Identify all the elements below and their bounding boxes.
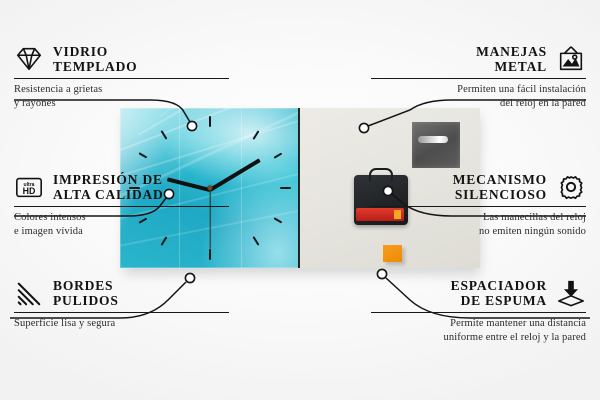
feature-sub: Permiten una fácil instalación bbox=[371, 83, 586, 97]
feature-sub: Superficie lisa y segura bbox=[14, 317, 229, 331]
feature-title: MECANISMO bbox=[453, 172, 547, 187]
divider bbox=[371, 78, 586, 80]
feature-sub-2: del reloj en la pared bbox=[371, 97, 586, 111]
divider bbox=[14, 78, 229, 80]
svg-text:HD: HD bbox=[23, 186, 36, 196]
feature-vidrio-templado[interactable]: VIDRIO TEMPLADO Resistencia a grietas y … bbox=[14, 44, 229, 111]
feature-sub: Permite mantener una distancia bbox=[371, 317, 586, 331]
feature-sub: Resistencia a grietas bbox=[14, 83, 229, 97]
metal-hanger-plate bbox=[412, 122, 460, 168]
feature-sub-2: e imagen vívida bbox=[14, 225, 229, 239]
divider bbox=[371, 206, 586, 208]
feature-title-2: SILENCIOSO bbox=[453, 187, 547, 202]
foam-spacer-arrow-icon bbox=[556, 278, 586, 308]
feature-title-2: METAL bbox=[476, 59, 547, 74]
picture-frame-hanger-icon bbox=[556, 44, 586, 74]
feature-sub-2: uniforme entre el reloj y la pared bbox=[371, 331, 586, 345]
feature-espaciador-espuma[interactable]: ESPACIADOR DE ESPUMA Permite mantener un… bbox=[371, 278, 586, 345]
feature-manejas-metal[interactable]: MANEJAS METAL Permiten una fácil instala… bbox=[371, 44, 586, 111]
polished-edge-icon bbox=[14, 278, 44, 308]
feature-title-2: ALTA CALIDAD bbox=[53, 187, 164, 202]
infographic-stage: VIDRIO TEMPLADO Resistencia a grietas y … bbox=[0, 0, 600, 400]
feature-sub-2: no emiten ningún sonido bbox=[371, 225, 586, 239]
feature-title: MANEJAS bbox=[476, 44, 547, 59]
feature-title: BORDES bbox=[53, 278, 119, 293]
divider bbox=[14, 206, 229, 208]
foam-spacer-pad bbox=[383, 245, 402, 262]
feature-sub: Las manecillas del reloj bbox=[371, 211, 586, 225]
feature-title-2: TEMPLADO bbox=[53, 59, 137, 74]
divider bbox=[14, 312, 229, 314]
feature-title: IMPRESIÓN DE bbox=[53, 172, 164, 187]
diamond-icon bbox=[14, 44, 44, 74]
feature-title-2: PULIDOS bbox=[53, 293, 119, 308]
feature-bordes-pulidos[interactable]: BORDES PULIDOS Superficie lisa y segura bbox=[14, 278, 229, 331]
feature-impresion-alta-calidad[interactable]: ultra HD IMPRESIÓN DE ALTA CALIDAD Color… bbox=[14, 172, 229, 239]
feature-sub-2: y rayones bbox=[14, 97, 229, 111]
feature-title-2: DE ESPUMA bbox=[451, 293, 547, 308]
gear-icon bbox=[556, 172, 586, 202]
ultra-hd-icon: ultra HD bbox=[14, 172, 44, 202]
divider bbox=[371, 312, 586, 314]
feature-title: VIDRIO bbox=[53, 44, 137, 59]
feature-sub: Colores intensos bbox=[14, 211, 229, 225]
feature-title: ESPACIADOR bbox=[451, 278, 547, 293]
feature-mecanismo-silencioso[interactable]: MECANISMO SILENCIOSO Las manecillas del … bbox=[371, 172, 586, 239]
